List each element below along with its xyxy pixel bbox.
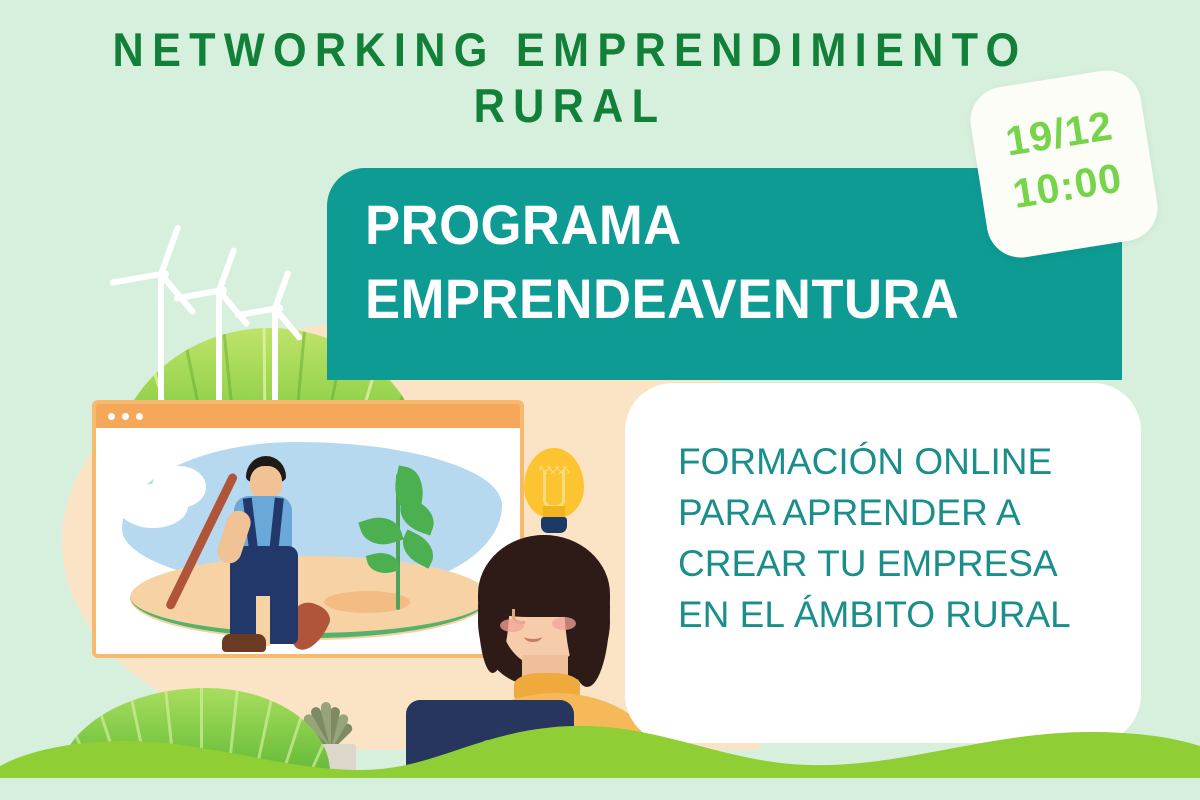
woman-blush: [500, 619, 524, 632]
turbine-hub: [218, 286, 227, 295]
program-title-line2: EMPRENDEAVENTURA: [365, 267, 959, 330]
info-line-2: PARA APRENDER A: [678, 492, 1021, 533]
turbine-hub: [160, 270, 169, 279]
lightbulb-filament: [543, 470, 565, 508]
lightbulb-zigzag: [539, 466, 569, 474]
program-title: PROGRAMA EMPRENDEAVENTURA: [365, 188, 959, 336]
info-card-text: FORMACIÓN ONLINE PARA APRENDER A CREAR T…: [678, 436, 1071, 640]
cloud-icon: [152, 466, 206, 508]
turbine-blade: [109, 271, 161, 286]
farmer-boot: [222, 634, 266, 652]
browser-dot-icon: [122, 413, 129, 420]
browser-titlebar: [96, 404, 520, 428]
woman-blush: [552, 617, 576, 630]
woman-eyebrow: [540, 589, 558, 594]
farmer-head: [250, 466, 282, 500]
woman-mouth: [524, 631, 542, 642]
bottom-mint-strip: [0, 778, 1200, 800]
woman-eye: [546, 603, 553, 612]
turbine-blade: [173, 288, 219, 302]
info-line-3: CREAR TU EMPRESA: [678, 543, 1058, 584]
program-title-line1: PROGRAMA: [365, 193, 682, 256]
info-line-1: FORMACIÓN ONLINE: [678, 441, 1052, 482]
turbine-blade: [272, 269, 292, 309]
lightbulb-base: [541, 517, 567, 533]
poster-title-line1: NETWORKING EMPRENDIMIENTO: [46, 22, 1095, 78]
turbine-hub: [274, 304, 283, 313]
browser-screen: [96, 428, 520, 658]
poster-title: NETWORKING EMPRENDIMIENTO RURAL: [0, 22, 1140, 134]
poster-title-line2: RURAL: [46, 78, 1095, 134]
browser-dot-icon: [136, 413, 143, 420]
info-line-4: EN EL ÁMBITO RURAL: [678, 594, 1071, 635]
browser-window-illustration: [92, 400, 524, 658]
browser-dot-icon: [108, 413, 115, 420]
poster-canvas: PROGRAMA EMPRENDEAVENTURA: [0, 0, 1200, 800]
turbine-blade: [158, 224, 181, 275]
turbine-blade: [216, 247, 237, 292]
date-badge: 19/12 10:00: [966, 66, 1163, 263]
turbine-blade: [235, 306, 276, 319]
